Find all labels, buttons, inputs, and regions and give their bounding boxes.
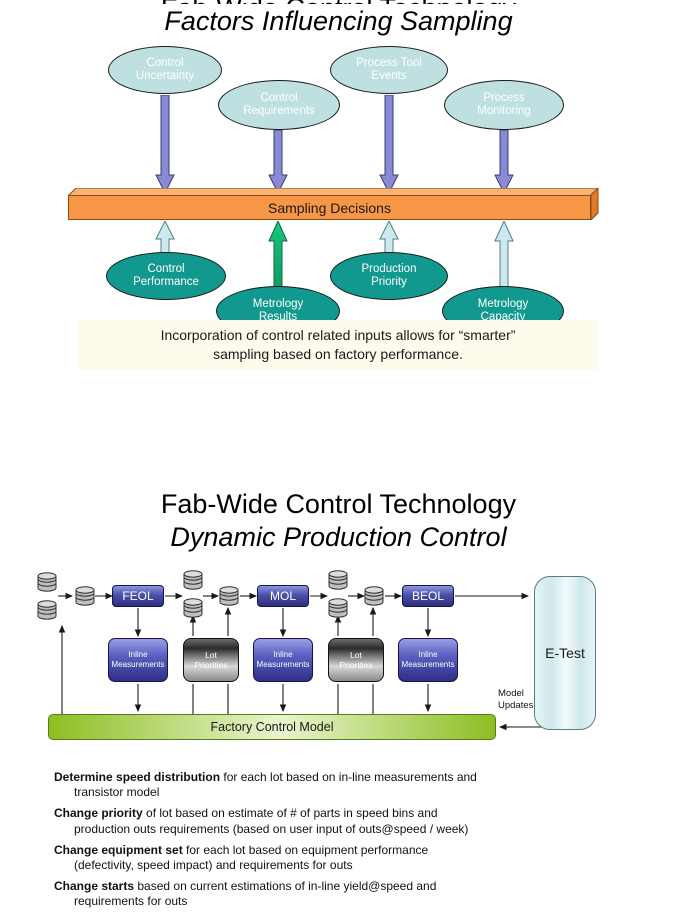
lot-priorities-line2: Priorities <box>194 660 227 670</box>
bullet-rest: of lot based on estimate of # of parts i… <box>143 806 438 820</box>
sampling-decisions-bar[interactable]: Sampling Decisions <box>68 188 598 220</box>
bullet-bold: Change starts <box>54 879 134 893</box>
bullet-cont: requirements for outs <box>54 894 644 909</box>
wafer-stack-icon <box>327 570 349 597</box>
inline-measurements-line2: Measurements <box>257 660 310 670</box>
ellipse-control-uncertainty-line1: Control <box>146 57 183 69</box>
arrow-up-metrology-capacity <box>494 221 514 293</box>
lot-priorities-line1: Lot <box>205 650 217 660</box>
arrow-down-control-requirements <box>268 130 288 195</box>
wafer-stack-icon <box>36 572 58 599</box>
slide1-title-cutoff-text: Fab-Wide Control Technology <box>0 0 677 4</box>
process-box-mol[interactable]: MOL <box>257 585 309 607</box>
ellipse-process-tool-events-line1: Process Tool <box>356 57 422 69</box>
wafer-stack-icon <box>182 570 204 597</box>
inline-measurements-box[interactable]: Inline Measurements <box>398 638 458 682</box>
ellipse-metrology-results-line1: Metrology <box>253 298 304 310</box>
arrow-down-control-uncertainty <box>155 95 175 195</box>
ellipse-process-monitoring[interactable]: Process Monitoring <box>444 80 564 130</box>
ellipse-control-performance[interactable]: Control Performance <box>106 252 226 300</box>
dynamic-production-control-diagram: FEOL MOL BEOL Inline Measurements Inline… <box>0 568 677 768</box>
sampling-bar-label: Sampling Decisions <box>68 195 591 220</box>
ellipse-process-tool-events-line2: Events <box>371 70 406 82</box>
slide2-title: Fab-Wide Control Technology <box>0 488 677 524</box>
bullet-cont: production outs requirements (based on u… <box>54 822 644 837</box>
ellipse-control-performance-line1: Control <box>147 263 184 275</box>
inline-measurements-line1: Inline <box>273 650 292 660</box>
bullet-rest: based on current estimations of in-line … <box>134 879 436 893</box>
slide2-subtitle-text: Dynamic Production Control <box>170 522 506 552</box>
process-box-beol[interactable]: BEOL <box>402 585 454 607</box>
bullet-bold: Determine speed distribution <box>54 770 220 784</box>
arrow-down-process-monitoring <box>494 130 514 195</box>
ellipse-control-requirements-line2: Requirements <box>243 105 315 117</box>
arrow-down-process-tool-events <box>379 95 399 195</box>
wafer-stack-icon <box>363 586 385 613</box>
bullet-item: Determine speed distribution for each lo… <box>54 770 644 800</box>
inline-measurements-line1: Inline <box>128 650 147 660</box>
inline-measurements-box[interactable]: Inline Measurements <box>108 638 168 682</box>
process-box-feol[interactable]: FEOL <box>112 585 164 607</box>
presentation-slide-stack: Fab-Wide Control Technology Factors Infl… <box>0 0 677 924</box>
wafer-stack-icon <box>218 586 240 613</box>
ellipse-process-monitoring-line1: Process <box>483 92 525 104</box>
inline-measurements-line2: Measurements <box>112 660 165 670</box>
slide1-caption-line2: sampling based on factory performance. <box>213 345 463 364</box>
model-updates-line2: Updates <box>498 700 558 712</box>
ellipse-control-uncertainty[interactable]: Control Uncertainty <box>108 46 222 94</box>
slide2-title-text: Fab-Wide Control Technology <box>161 489 516 519</box>
arrow-up-metrology-results <box>268 221 288 293</box>
ellipse-production-priority-line1: Production <box>362 263 417 275</box>
bullet-item: Change priority of lot based on estimate… <box>54 806 644 836</box>
ellipse-production-priority-line2: Priority <box>371 276 407 288</box>
inline-measurements-line1: Inline <box>418 650 437 660</box>
lot-priorities-line2: Priorities <box>339 660 372 670</box>
bullet-item: Change starts based on current estimatio… <box>54 879 644 909</box>
bullet-item: Change equipment set for each lot based … <box>54 843 644 873</box>
factory-control-model-bar[interactable]: Factory Control Model <box>48 714 496 740</box>
slide1-subtitle: Factors Influencing Sampling <box>0 6 677 40</box>
lot-priorities-line1: Lot <box>350 650 362 660</box>
ellipse-control-performance-line2: Performance <box>133 276 199 288</box>
slide1-caption: Incorporation of control related inputs … <box>78 320 598 370</box>
wafer-stack-icon <box>327 598 349 625</box>
bullet-rest: for each lot based on in-line measuremen… <box>220 770 477 784</box>
bullet-cont: transistor model <box>54 785 644 800</box>
inline-measurements-box[interactable]: Inline Measurements <box>253 638 313 682</box>
wafer-stack-icon <box>36 600 58 627</box>
bullet-bold: Change priority <box>54 806 143 820</box>
ellipse-process-tool-events[interactable]: Process Tool Events <box>330 46 448 94</box>
bullet-rest: for each lot based on equipment performa… <box>183 843 428 857</box>
model-updates-line1: Model <box>498 688 558 700</box>
ellipse-metrology-capacity-line1: Metrology <box>478 298 529 310</box>
ellipse-control-requirements-line1: Control <box>260 92 297 104</box>
bullet-cont: (defectivity, speed impact) and requirem… <box>54 858 644 873</box>
wafer-stack-icon <box>182 598 204 625</box>
slide1-caption-line1: Incorporation of control related inputs … <box>161 326 516 345</box>
ellipse-control-requirements[interactable]: Control Requirements <box>218 80 340 130</box>
wafer-stack-icon <box>74 586 96 613</box>
factors-influencing-sampling-diagram: Control Uncertainty Control Requirements… <box>0 38 677 303</box>
slide2-bullet-list: Determine speed distribution for each lo… <box>54 770 644 916</box>
slide2-subtitle: Dynamic Production Control <box>0 522 677 556</box>
slide1-title-cutoff: Fab-Wide Control Technology <box>0 0 677 4</box>
lot-priorities-box[interactable]: Lot Priorities <box>183 638 239 682</box>
ellipse-control-uncertainty-line2: Uncertainty <box>136 70 194 82</box>
slide1-subtitle-text: Factors Influencing Sampling <box>164 6 512 36</box>
model-updates-label: Model Updates <box>498 688 558 712</box>
ellipse-production-priority[interactable]: Production Priority <box>330 252 448 300</box>
bullet-bold: Change equipment set <box>54 843 183 857</box>
lot-priorities-box[interactable]: Lot Priorities <box>328 638 384 682</box>
ellipse-process-monitoring-line2: Monitoring <box>477 105 531 117</box>
inline-measurements-line2: Measurements <box>402 660 455 670</box>
